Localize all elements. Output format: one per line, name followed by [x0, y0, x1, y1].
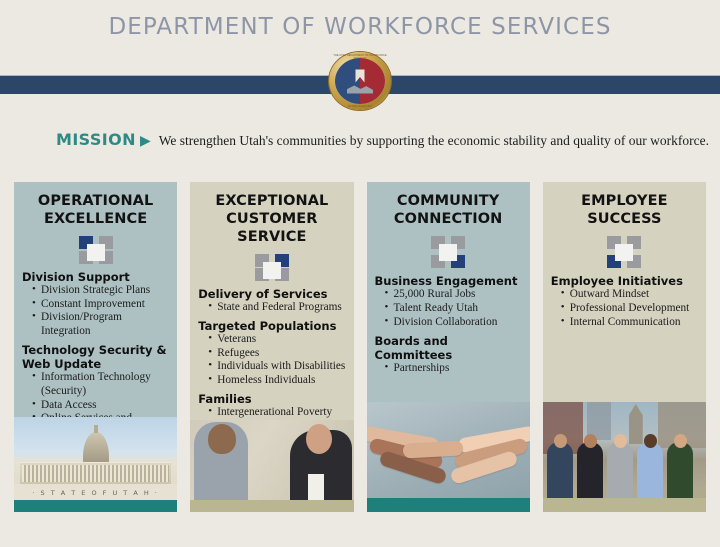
list-item: Information Technology (Security) [32, 371, 169, 399]
group-heading: Delivery of Services [198, 287, 345, 301]
group-heading: Employee Initiatives [551, 274, 698, 288]
list-item: Division Strategic Plans [32, 284, 169, 298]
four-square-logo-icon [607, 236, 641, 268]
group-heading: Business Engagement [375, 274, 522, 288]
bullet-list: Intergenerational Poverty Two-Gen Approa… [208, 406, 345, 420]
group-heading: Division Support [22, 270, 169, 284]
photo-person-right-head [306, 424, 332, 454]
pillar-cards: OPERATIONAL EXCELLENCE Division Support … [14, 182, 706, 512]
four-square-logo-icon [255, 254, 289, 281]
seal-w-monogram [347, 69, 373, 93]
group-heading: Technology Security & Web Update [22, 343, 169, 371]
card-footer-bar [14, 500, 177, 512]
list-item: Data Access [32, 399, 169, 413]
photo-person-head [644, 434, 657, 448]
mission-statement: MISSION ▶ We strengthen Utah's communiti… [0, 130, 720, 149]
four-square-logo-icon [431, 236, 465, 268]
list-item: Partnerships [385, 362, 522, 376]
list-item: State and Federal Programs [208, 301, 345, 315]
card-footer-bar [190, 500, 353, 512]
bullet-list: Division Strategic Plans Constant Improv… [32, 284, 169, 339]
photo-person [667, 442, 693, 498]
list-item: Professional Development [561, 302, 698, 316]
mark-center-square [439, 244, 457, 261]
bullet-list: Outward Mindset Professional Development… [561, 288, 698, 329]
list-item: Outward Mindset [561, 288, 698, 302]
photo-hand [402, 440, 463, 458]
bullet-list: State and Federal Programs [208, 301, 345, 315]
triangle-right-icon: ▶ [140, 133, 151, 147]
card-body: Division Support Division Strategic Plan… [14, 270, 177, 417]
page-title: DEPARTMENT OF WORKFORCE SERVICES [0, 14, 720, 40]
card-title: COMMUNITY CONNECTION [367, 182, 530, 228]
seal-emblem [335, 58, 385, 104]
list-item: Homeless Individuals [208, 374, 345, 388]
seal-ring-bottom-text: ESTABLISHED 1997 [329, 105, 391, 108]
mark-center-square [263, 262, 281, 279]
photo-person-head [584, 434, 597, 448]
four-square-logo-icon [79, 236, 113, 264]
photo-person [547, 442, 573, 498]
card-body: Business Engagement 25,000 Rural Jobs Ta… [367, 274, 530, 402]
bullet-list: 25,000 Rural Jobs Talent Ready Utah Divi… [385, 288, 522, 329]
photo-person [637, 442, 663, 498]
employee-team-photo [543, 402, 706, 498]
card-title: OPERATIONAL EXCELLENCE [14, 182, 177, 228]
card-footer-bar [543, 498, 706, 512]
card-community-connection[interactable]: COMMUNITY CONNECTION Business Engagement… [367, 182, 530, 512]
utah-capitol-photo: · S T A T E O F U T A H · [14, 417, 177, 500]
list-item: Division/Program Integration [32, 311, 169, 339]
card-footer-bar [367, 498, 530, 512]
list-item: Veterans [208, 333, 345, 347]
list-item: Constant Improvement [32, 298, 169, 312]
group-heading: Families [198, 392, 345, 406]
customer-service-photo [190, 420, 353, 500]
card-body: Employee Initiatives Outward Mindset Pro… [543, 274, 706, 402]
bullet-list: Veterans Refugees Individuals with Disab… [208, 333, 345, 388]
card-exceptional-customer-service[interactable]: EXCEPTIONAL CUSTOMER SERVICE Delivery of… [190, 182, 353, 512]
list-item: Intergenerational Poverty [208, 406, 345, 420]
card-body: Delivery of Services State and Federal P… [190, 287, 353, 420]
seal-notch [356, 69, 365, 82]
hands-together-photo [367, 402, 530, 498]
photo-person-head [554, 434, 567, 448]
list-item: Talent Ready Utah [385, 302, 522, 316]
card-title: EMPLOYEE SUCCESS [543, 182, 706, 228]
list-item: Internal Communication [561, 316, 698, 330]
card-title: EXCEPTIONAL CUSTOMER SERVICE [190, 182, 353, 246]
card-operational-excellence[interactable]: OPERATIONAL EXCELLENCE Division Support … [14, 182, 177, 512]
mark-center-square [87, 244, 105, 261]
card-employee-success[interactable]: EMPLOYEE SUCCESS Employee Initiatives Ou… [543, 182, 706, 512]
photo-person [607, 442, 633, 498]
mission-text: We strengthen Utah's communities by supp… [159, 133, 709, 149]
photo-person-head [614, 434, 627, 448]
capitol-columns [22, 465, 169, 482]
bullet-list: Information Technology (Security) Data A… [32, 371, 169, 417]
photo-person-right-shirt [308, 474, 324, 500]
mark-center-square [615, 244, 633, 261]
photo-person-head [674, 434, 687, 448]
photo-person [577, 442, 603, 498]
photo-spire [629, 404, 643, 444]
capitol-caption: · S T A T E O F U T A H · [14, 489, 177, 497]
list-item: 25,000 Rural Jobs [385, 288, 522, 302]
bullet-list: Partnerships [385, 362, 522, 376]
group-heading: Boards and Committees [375, 334, 522, 362]
list-item: Individuals with Disabilities [208, 360, 345, 374]
list-item: Refugees [208, 347, 345, 361]
group-heading: Targeted Populations [198, 319, 345, 333]
seal-mountain-base [347, 85, 373, 93]
capitol-dome [83, 432, 109, 466]
photo-person-left-head [208, 424, 236, 454]
list-item: Division Collaboration [385, 316, 522, 330]
dws-seal: THE UTAH DEPARTMENT OF WORKFORCE SERVICE… [329, 52, 391, 110]
mission-label: MISSION [56, 130, 136, 149]
